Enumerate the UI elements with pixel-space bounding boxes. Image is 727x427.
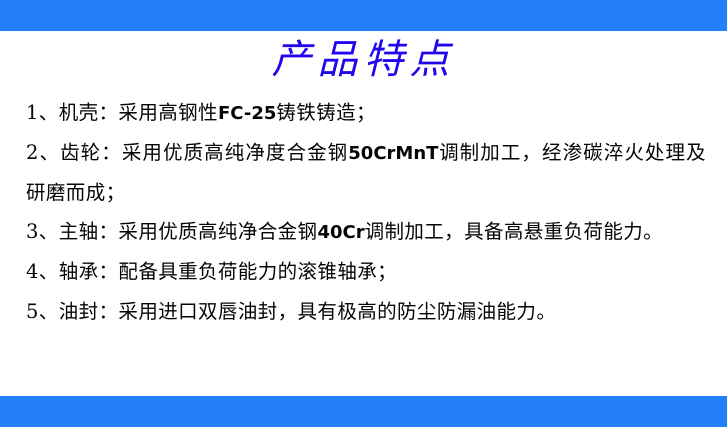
list-item: 5、油封：采用进口双唇油封，具有极高的防尘防漏油能力。 [26,292,706,332]
list-item: 2、齿轮：采用优质高纯净度合金钢50CrMnT调制加工，经渗碳淬火处理及研磨而成… [26,133,706,212]
feature-label: 轴承： [59,260,119,283]
feature-label: 油封： [59,300,119,323]
list-item: 1、机壳：采用高钢性FC-25铸铁铸造； [26,93,706,133]
feature-text-before: 配备具重负荷能力的滚锥轴承； [118,260,397,283]
feature-label: 主轴： [59,220,119,243]
material-code: 50CrMnT [348,143,438,164]
feature-text-after: 铸铁铸造； [276,101,376,124]
material-code: 40Cr [317,222,364,243]
feature-label: 机壳： [59,101,119,124]
top-blue-bar [0,0,727,31]
content-area: 产品特点 1、机壳：采用高钢性FC-25铸铁铸造； 2、齿轮：采用优质高纯净度合… [0,31,727,396]
list-item: 4、轴承：配备具重负荷能力的滚锥轴承； [26,252,706,292]
bottom-blue-bar [0,396,727,427]
feature-index: 3、 [26,220,59,243]
feature-text-before: 采用进口双唇油封，具有极高的防尘防漏油能力。 [118,300,556,323]
feature-text-before: 采用高钢性 [118,101,218,124]
material-code: FC-25 [218,103,276,124]
feature-index: 4、 [26,260,59,283]
feature-index: 5、 [26,300,59,323]
feature-list: 1、机壳：采用高钢性FC-25铸铁铸造； 2、齿轮：采用优质高纯净度合金钢50C… [26,93,706,332]
feature-text-before: 采用优质高纯净合金钢 [118,220,317,243]
feature-text-after: 调制加工，具备高悬重负荷能力。 [365,220,664,243]
feature-label: 齿轮： [60,141,122,164]
feature-text-before: 采用优质高纯净度合金钢 [122,141,348,164]
page-title: 产品特点 [0,36,727,84]
product-features-banner: 产品特点 1、机壳：采用高钢性FC-25铸铁铸造； 2、齿轮：采用优质高纯净度合… [0,0,727,427]
feature-index: 1、 [26,101,59,124]
list-item: 3、主轴：采用优质高纯净合金钢40Cr调制加工，具备高悬重负荷能力。 [26,212,706,252]
feature-index: 2、 [26,141,60,164]
